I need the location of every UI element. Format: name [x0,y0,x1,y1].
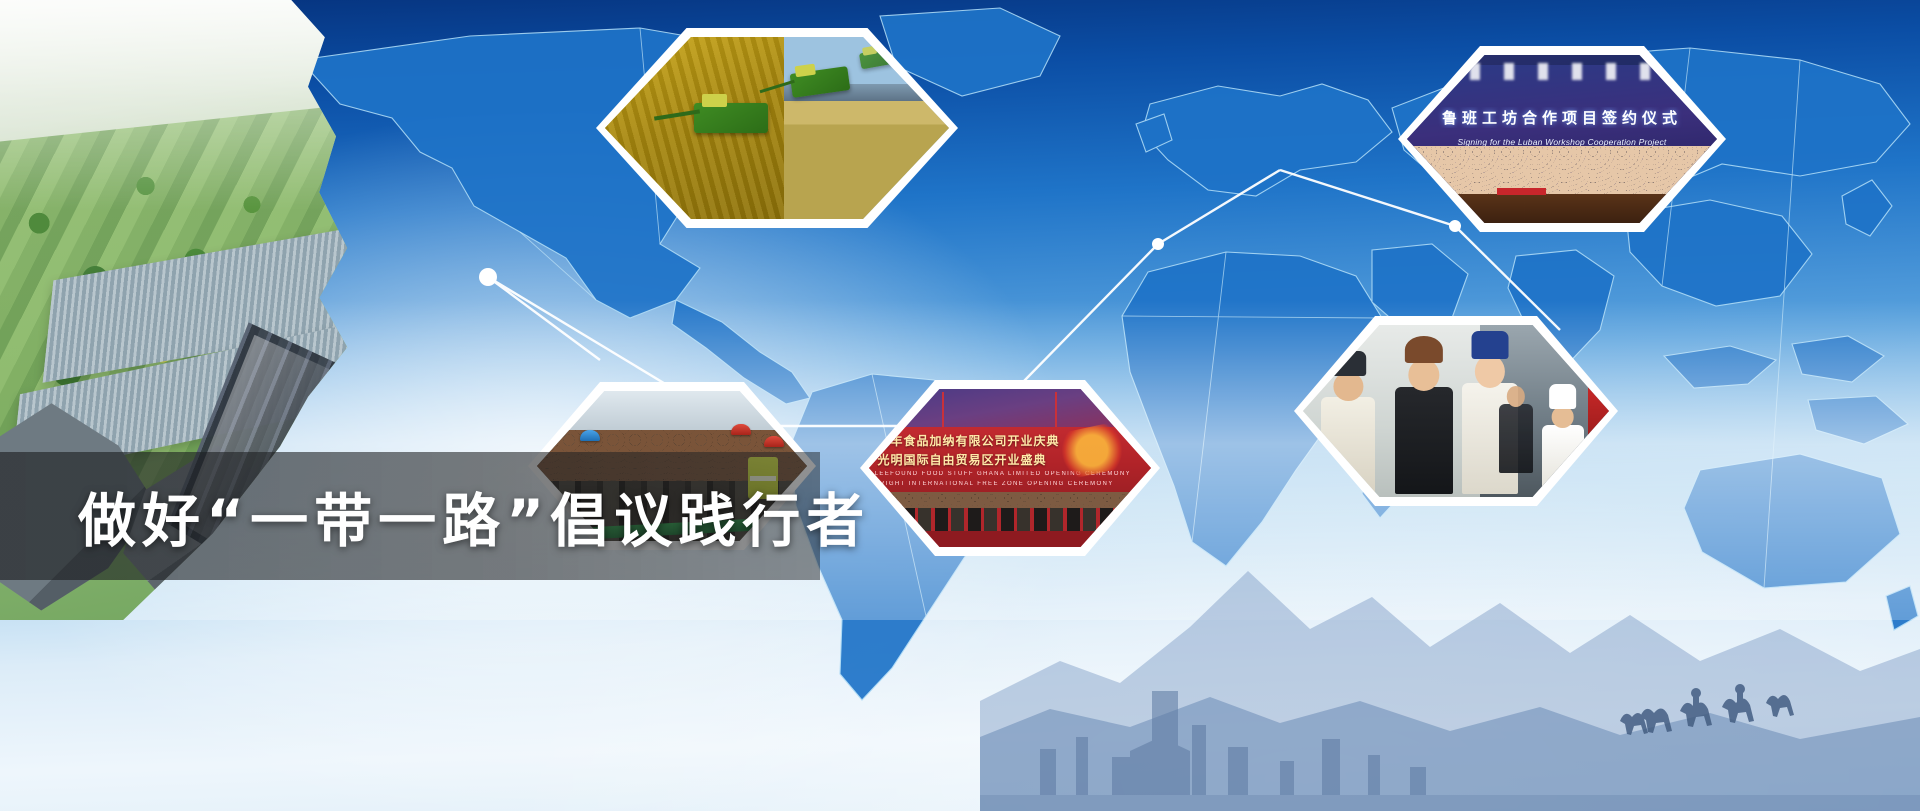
hero-banner: 鲁班工坊合作项目签约仪式 Signing for the Luban Works… [0,0,1920,811]
hexagon-image-agriculture [605,37,949,219]
hexagon-image-luban-workshop: 鲁班工坊合作项目签约仪式 Signing for the Luban Works… [1407,55,1717,223]
page-title: 做好“一带一路”倡议践行者 [78,474,870,558]
headline-banner: 做好“一带一路”倡议践行者 [0,452,820,580]
hexagon-image-culinary-training [1303,325,1609,497]
hexagon-image-ghana-ceremony: 利丰食品加纳有限公司开业庆典 光明国际自由贸易区开业盛典 LEEFOUND FO… [869,389,1151,547]
ghana-banner-english-line2: BRIGHT INTERNATIONAL FREE ZONE OPENING C… [875,481,1146,487]
silk-road-landscape [980,511,1920,811]
luban-banner-chinese: 鲁班工坊合作项目签约仪式 [1416,107,1707,128]
